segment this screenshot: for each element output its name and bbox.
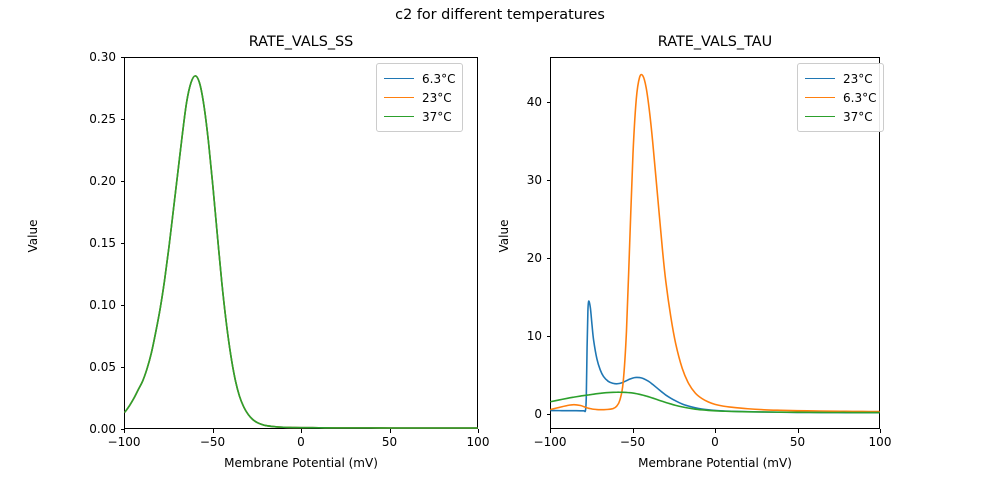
y-tick-label: 40: [450, 95, 542, 109]
legend-item[interactable]: 37°C: [805, 107, 876, 126]
x-tick-label: 50: [382, 435, 397, 449]
y-tick-mark: [547, 336, 551, 337]
axes-right-title: RATE_VALS_TAU: [551, 34, 879, 50]
y-tick-mark: [547, 414, 551, 415]
y-tick-mark: [121, 367, 125, 368]
axes-left-xlabel: Membrane Potential (mV): [124, 456, 478, 470]
x-tick-mark: [390, 429, 391, 433]
legend-color-swatch: [805, 97, 835, 98]
y-tick-label: 0.05: [24, 360, 116, 374]
x-tick-mark: [880, 429, 881, 433]
x-tick-mark: [213, 429, 214, 433]
x-tick-label: −50: [620, 435, 645, 449]
axes-left-ylabel: Value: [26, 220, 40, 253]
x-tick-mark: [633, 429, 634, 433]
x-tick-label: −100: [534, 435, 567, 449]
y-tick-label: 0.30: [24, 50, 116, 64]
x-tick-label: 100: [467, 435, 490, 449]
x-tick-mark: [798, 429, 799, 433]
legend-color-swatch: [805, 78, 835, 79]
y-tick-mark: [547, 180, 551, 181]
legend-label: 6.3°C: [422, 72, 455, 86]
y-tick-mark: [121, 243, 125, 244]
x-tick-label: −100: [108, 435, 141, 449]
y-tick-mark: [121, 429, 125, 430]
y-tick-mark: [121, 57, 125, 58]
x-tick-label: 50: [790, 435, 805, 449]
legend-item[interactable]: 6.3°C: [384, 69, 455, 88]
x-tick-mark: [715, 429, 716, 433]
y-tick-mark: [547, 102, 551, 103]
legend-item[interactable]: 23°C: [384, 88, 455, 107]
x-tick-label: 0: [297, 435, 305, 449]
x-tick-mark: [478, 429, 479, 433]
x-tick-mark: [124, 429, 125, 433]
legend-color-swatch: [384, 78, 414, 79]
y-tick-label: 0.00: [24, 422, 116, 436]
x-tick-label: 0: [711, 435, 719, 449]
axes-right-ylabel: Value: [497, 220, 511, 253]
x-tick-label: 100: [869, 435, 892, 449]
y-tick-label: 0.25: [24, 112, 116, 126]
y-tick-mark: [121, 181, 125, 182]
figure-suptitle: c2 for different temperatures: [0, 7, 1000, 23]
y-tick-label: 30: [450, 173, 542, 187]
y-tick-label: 0.20: [24, 174, 116, 188]
matplotlib-figure: c2 for different temperatures RATE_VALS_…: [0, 0, 1000, 500]
legend-label: 37°C: [843, 110, 873, 124]
axes-right-xlabel: Membrane Potential (mV): [550, 456, 880, 470]
legend-item[interactable]: 23°C: [805, 69, 876, 88]
series-line: [551, 301, 879, 413]
legend-color-swatch: [384, 97, 414, 98]
legend-rate-vals-tau[interactable]: 23°C6.3°C37°C: [797, 63, 884, 132]
y-tick-label: 0: [450, 407, 542, 421]
legend-item[interactable]: 6.3°C: [805, 88, 876, 107]
y-tick-label: 20: [450, 251, 542, 265]
y-tick-label: 0.10: [24, 298, 116, 312]
x-tick-label: −50: [200, 435, 225, 449]
legend-label: 23°C: [843, 72, 873, 86]
axes-left-title: RATE_VALS_SS: [125, 34, 477, 50]
y-tick-mark: [547, 258, 551, 259]
legend-color-swatch: [384, 116, 414, 117]
y-tick-label: 10: [450, 329, 542, 343]
x-tick-mark: [301, 429, 302, 433]
y-tick-mark: [121, 119, 125, 120]
legend-label: 37°C: [422, 110, 452, 124]
legend-color-swatch: [805, 116, 835, 117]
x-tick-mark: [550, 429, 551, 433]
y-tick-mark: [121, 305, 125, 306]
legend-item[interactable]: 37°C: [384, 107, 455, 126]
legend-label: 23°C: [422, 91, 452, 105]
legend-label: 6.3°C: [843, 91, 876, 105]
